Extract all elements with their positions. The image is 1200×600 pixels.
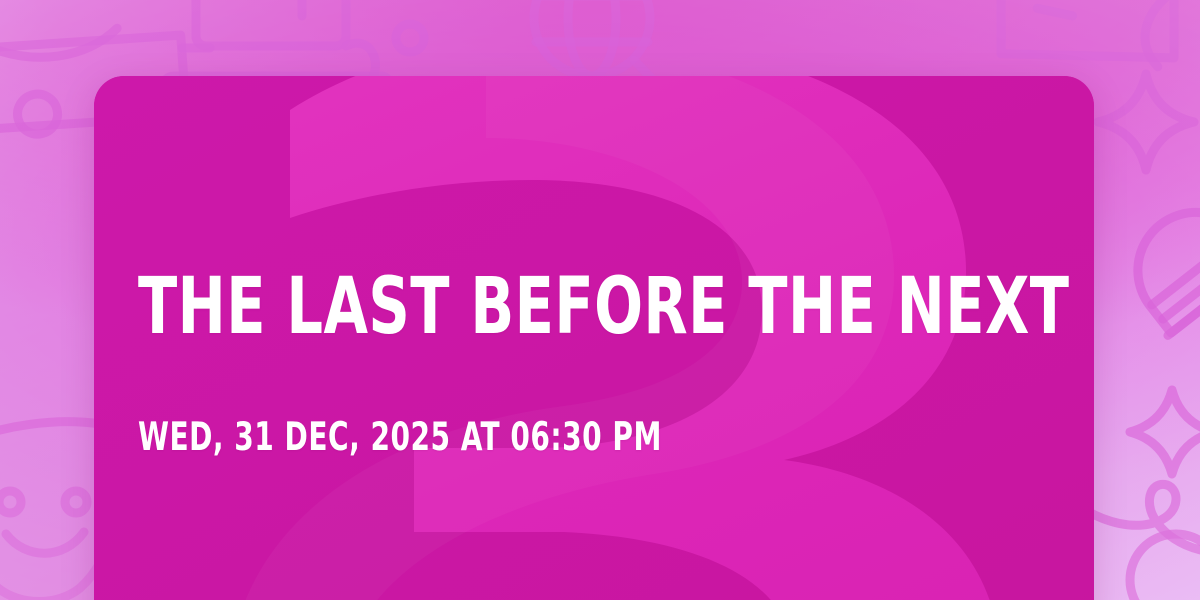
event-title: THE LAST BEFORE THE NEXT <box>138 272 1069 344</box>
card-content: THE LAST BEFORE THE NEXT WED, 31 DEC, 20… <box>138 76 1038 600</box>
event-card[interactable]: THE LAST BEFORE THE NEXT WED, 31 DEC, 20… <box>94 76 1094 600</box>
event-banner-stage: THE LAST BEFORE THE NEXT WED, 31 DEC, 20… <box>0 0 1200 600</box>
event-datetime: WED, 31 DEC, 2025 AT 06:30 PM <box>138 418 662 457</box>
